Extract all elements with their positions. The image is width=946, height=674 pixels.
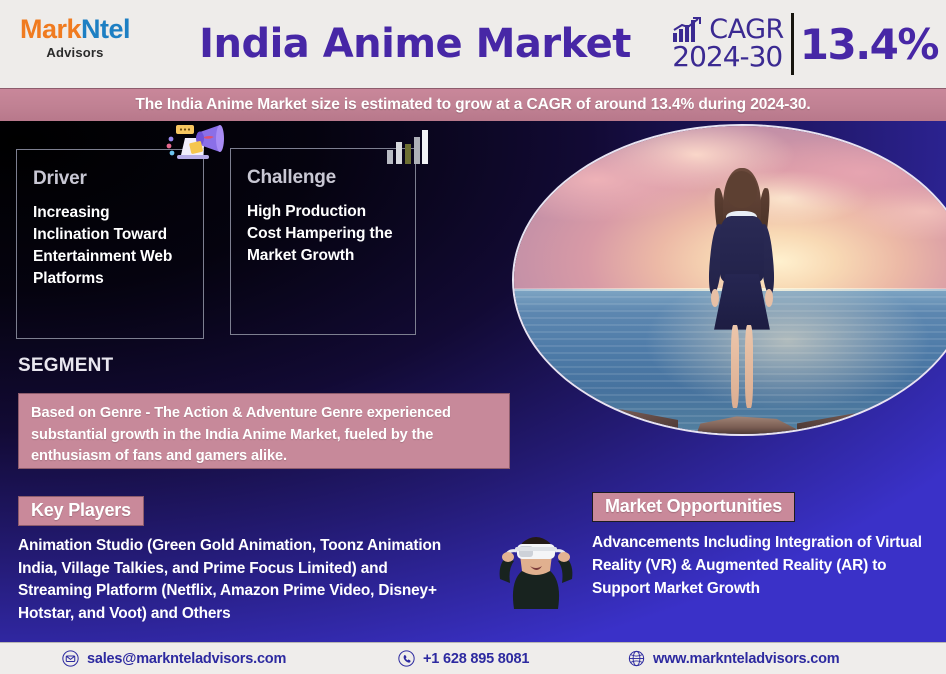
cagr-label: CAGR — [709, 16, 784, 44]
megaphone-laptop-icon — [163, 123, 227, 167]
driver-heading: Driver — [33, 168, 187, 190]
driver-box: Driver Increasing Inclination Toward Ent… — [16, 149, 204, 339]
challenge-heading: Challenge — [247, 167, 399, 189]
challenge-text: High Production Cost Hampering the Marke… — [247, 201, 399, 267]
hand-right — [765, 289, 773, 307]
key-players-badge: Key Players — [18, 496, 144, 526]
cagr-label-row: CAGR — [672, 16, 784, 44]
body-area: Driver Increasing Inclination Toward Ent… — [0, 121, 946, 642]
cagr-block: CAGR 2024-30 13.4% — [672, 10, 938, 78]
subtitle-banner: The India Anime Market size is estimated… — [0, 88, 946, 121]
footer-email[interactable]: sales@marknteladvisors.com — [62, 650, 286, 667]
logo-subtitle: Advisors — [10, 46, 140, 59]
logo-wordmark: MarkNtel — [10, 16, 140, 43]
market-opportunities-text: Advancements Including Integration of Vi… — [592, 531, 942, 600]
footer: sales@marknteladvisors.com +1 628 895 80… — [0, 642, 946, 674]
segment-box: Based on Genre - The Action & Adventure … — [18, 393, 510, 469]
hand-left — [711, 289, 719, 307]
cagr-period: 2024-30 — [672, 43, 784, 72]
driver-text: Increasing Inclination Toward Entertainm… — [33, 202, 187, 290]
phone-icon — [398, 650, 415, 667]
bar-chart-icon — [385, 128, 429, 165]
logo-text-ntel: Ntel — [81, 14, 130, 44]
page-title: India Anime Market — [150, 0, 680, 88]
cagr-value: 13.4% — [794, 20, 938, 69]
anime-girl-figure — [703, 163, 781, 416]
envelope-icon — [62, 650, 79, 667]
torso — [720, 216, 763, 282]
segment-label: SEGMENT — [18, 355, 113, 377]
market-opportunities-badge: Market Opportunities — [592, 492, 795, 522]
footer-phone[interactable]: +1 628 895 8081 — [398, 650, 529, 667]
hero-image — [512, 124, 946, 436]
challenge-box: Challenge High Production Cost Hampering… — [230, 148, 416, 335]
footer-email-text: sales@marknteladvisors.com — [87, 651, 286, 667]
footer-website-text: www.marknteladvisors.com — [653, 651, 839, 667]
footer-phone-text: +1 628 895 8081 — [423, 651, 529, 667]
logo-text-mark: Mark — [20, 14, 81, 44]
globe-icon — [628, 650, 645, 667]
infographic-page: MarkNtel Advisors India Anime Market CAG… — [0, 0, 946, 674]
vr-headset-person-photo — [484, 513, 588, 609]
skirt — [714, 274, 770, 330]
leg-right — [745, 325, 753, 408]
footer-website[interactable]: www.marknteladvisors.com — [628, 650, 839, 667]
key-players-text: Animation Studio (Green Gold Animation, … — [18, 535, 450, 626]
leg-left — [731, 325, 739, 408]
head — [726, 171, 757, 209]
cagr-label-group: CAGR 2024-30 — [672, 16, 791, 72]
header: MarkNtel Advisors India Anime Market CAG… — [0, 0, 946, 88]
company-logo[interactable]: MarkNtel Advisors — [10, 16, 140, 59]
